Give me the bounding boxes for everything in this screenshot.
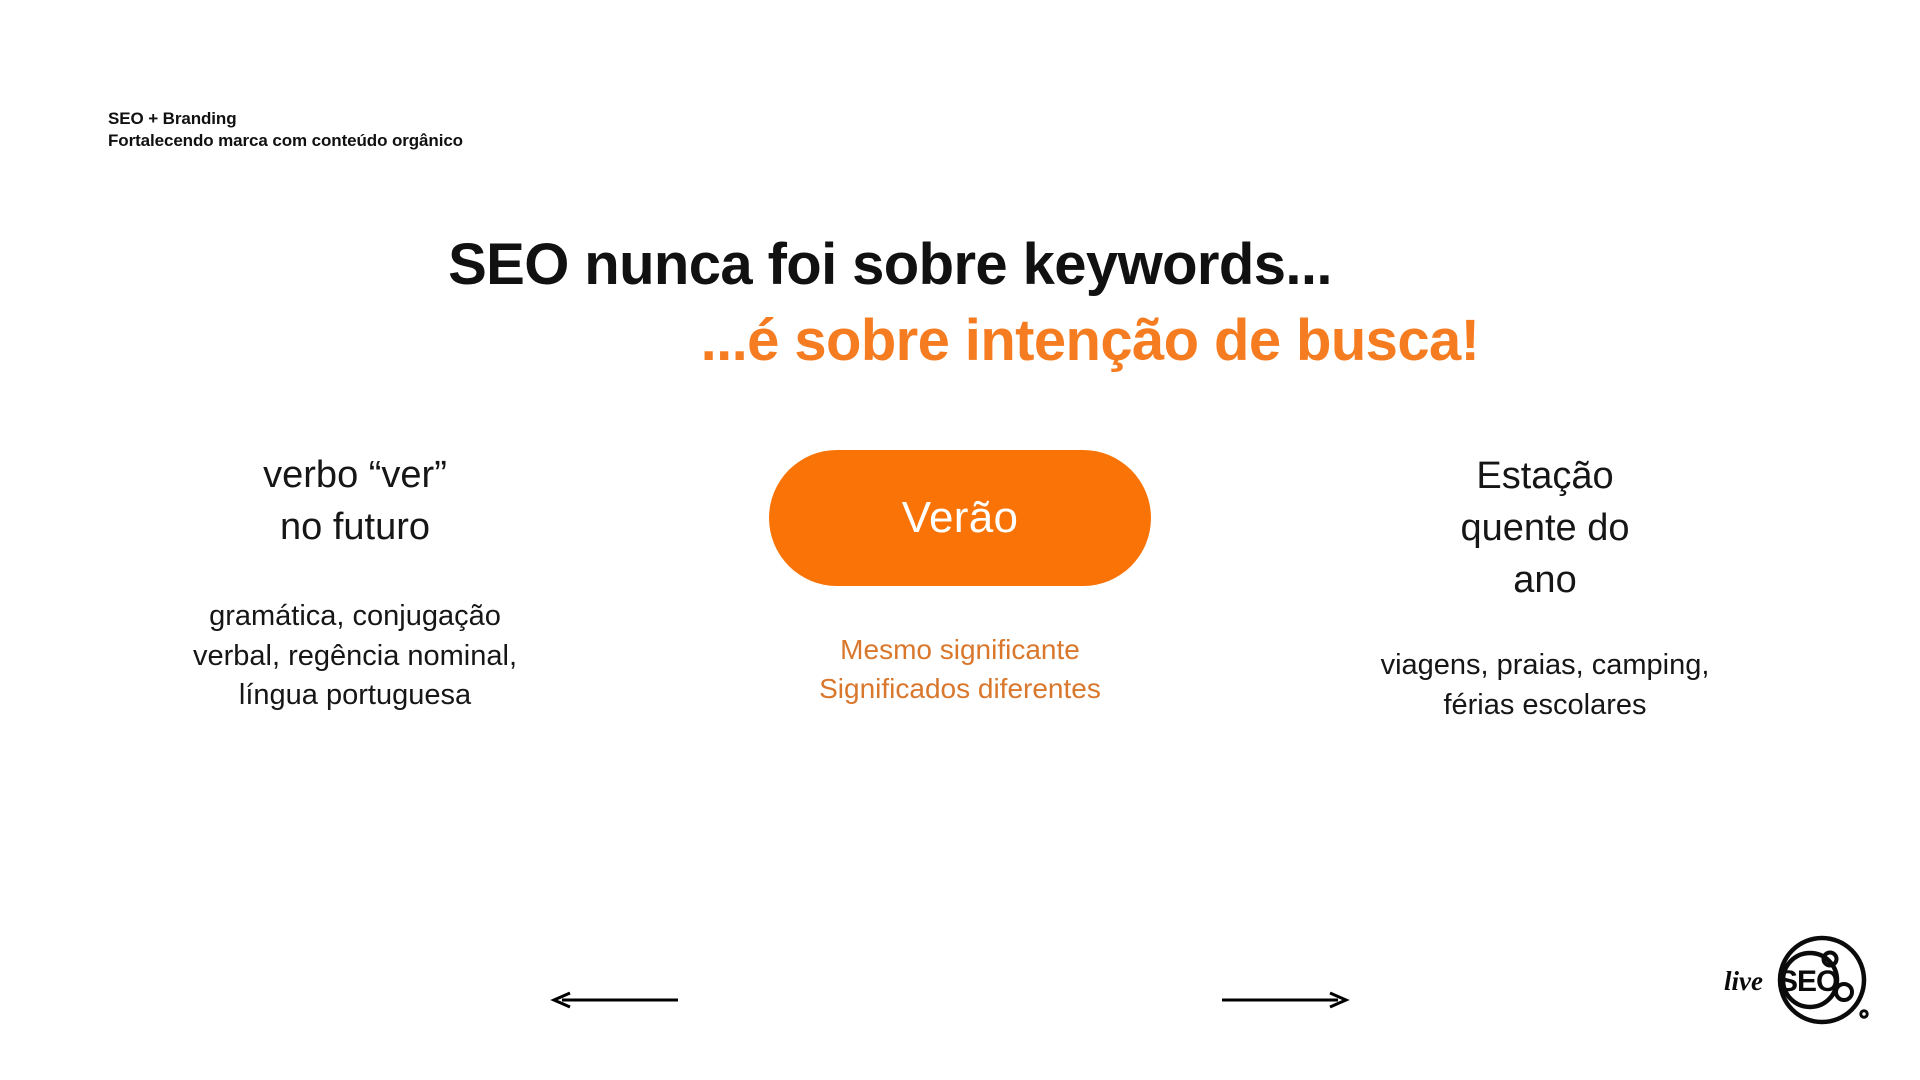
headline-line-1: SEO nunca foi sobre keywords... [0,232,1920,298]
left-title-line-1: verbo “ver” [140,450,570,502]
right-branch: Estação quente do ano viagens, praias, c… [1330,450,1760,725]
right-branch-title: Estação quente do ano [1330,450,1760,606]
right-title-line-2: quente do [1330,502,1760,554]
keyword-pill-label: Verão [902,493,1018,543]
slide-canvas: SEO + Branding Fortalecendo marca com co… [0,0,1920,1080]
logo-wordmark-live: live [1724,966,1763,996]
arrow-left-icon [548,988,678,1017]
left-branch-title: verbo “ver” no futuro [140,450,570,553]
keyword-pill[interactable]: Verão [769,450,1151,586]
kicker-line-2: Fortalecendo marca com conteúdo orgânico [108,130,463,152]
slide-kicker: SEO + Branding Fortalecendo marca com co… [108,108,463,153]
right-branch-caption: viagens, praias, camping, férias escolar… [1330,646,1760,725]
kicker-line-1: SEO + Branding [108,108,463,130]
left-caption-line-2: verbal, regência nominal, [140,637,570,676]
right-title-line-3: ano [1330,554,1760,606]
right-title-line-1: Estação [1330,450,1760,502]
right-caption-line-1: viagens, praias, camping, [1330,646,1760,685]
center-caption-line-1: Mesmo significante [720,630,1200,669]
left-branch-caption: gramática, conjugação verbal, regência n… [140,597,570,715]
left-branch: verbo “ver” no futuro gramática, conjuga… [140,450,570,716]
headline-line-2: ...é sobre intenção de busca! [260,308,1920,374]
logo-wordmark-seo: SEO [1778,965,1839,998]
center-caption-line-2: Significados diferentes [720,669,1200,708]
arrow-right-icon [1222,988,1352,1017]
liveseo-logo: live SEO [1718,930,1878,1030]
page-title: SEO nunca foi sobre keywords... ...é sob… [0,232,1920,374]
left-title-line-2: no futuro [140,502,570,554]
meaning-diagram: verbo “ver” no futuro gramática, conjuga… [0,450,1920,780]
center-caption: Mesmo significante Significados diferent… [720,630,1200,708]
left-caption-line-1: gramática, conjugação [140,597,570,636]
center-branch: Verão Mesmo significante Significados di… [720,450,1200,708]
left-caption-line-3: língua portuguesa [140,676,570,715]
right-caption-line-2: férias escolares [1330,686,1760,725]
